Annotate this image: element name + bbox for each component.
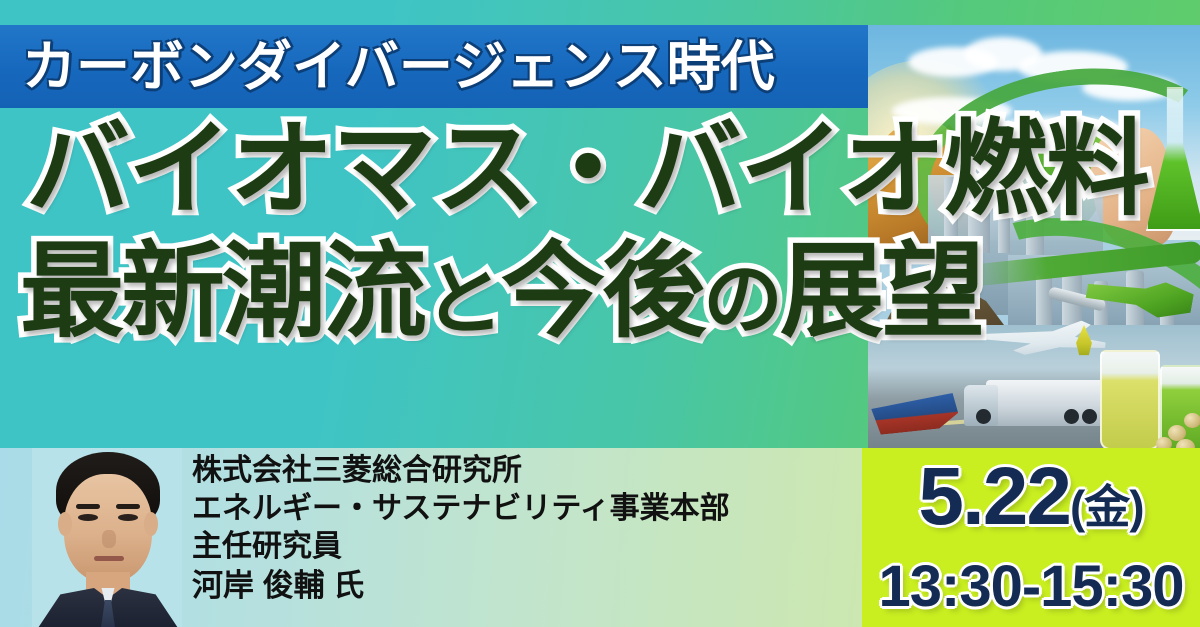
biofuel-jar xyxy=(1100,350,1160,448)
title-segment-to: と xyxy=(424,255,501,344)
portrait-ear xyxy=(144,512,158,536)
seminar-banner: カーボンダイバージェンス時代 xyxy=(0,0,1200,627)
speaker-info: 株式会社三菱総合研究所 エネルギー・サステナビリティ事業本部 主任研究員 河岸 … xyxy=(192,456,730,601)
truck-wheel xyxy=(976,409,991,424)
day-of-week: (金) xyxy=(1070,484,1144,538)
title-segment-no: の xyxy=(703,255,780,344)
speaker-name: 河岸 俊輔 氏 xyxy=(192,570,730,601)
title-segment-future: 今後 xyxy=(501,234,703,350)
date-row: 5.22 (金) xyxy=(862,456,1200,538)
soybean-icon xyxy=(1184,413,1200,428)
hero-section: カーボンダイバージェンス時代 xyxy=(0,0,1200,448)
date-panel: 5.22 (金) 13:30-15:30 xyxy=(862,448,1200,627)
eyebrow-text: カーボンダイバージェンス時代 xyxy=(0,40,775,94)
speaker-division: エネルギー・サステナビリティ事業本部 xyxy=(192,494,730,524)
title-block: バイオマス・バイオ燃料 最新潮流と今後の展望 xyxy=(0,118,1200,344)
portrait-eye xyxy=(78,514,98,521)
portrait-ear xyxy=(58,512,72,536)
speaker-portrait xyxy=(32,448,182,627)
portrait-eye xyxy=(118,514,138,521)
portrait-eyebrow xyxy=(76,504,100,509)
portrait-eyebrow xyxy=(116,504,140,509)
date-value: 5.22 xyxy=(918,456,1070,538)
soybean-icon xyxy=(1156,437,1172,448)
title-line-2: 最新潮流と今後の展望 xyxy=(0,240,1200,344)
title-line-1: バイオマス・バイオ燃料 xyxy=(0,118,1200,222)
title-segment-outlook: 展望 xyxy=(780,234,982,350)
portrait-mouth xyxy=(94,556,124,561)
speaker-role: 主任研究員 xyxy=(192,532,730,562)
truck-wheel xyxy=(1064,409,1079,424)
truck-wheel xyxy=(1082,409,1097,424)
portrait-face xyxy=(64,474,152,582)
time-range: 13:30-15:30 xyxy=(862,558,1200,616)
eyebrow-bar: カーボンダイバージェンス時代 xyxy=(0,25,868,108)
title-segment-latest-trends: 最新潮流 xyxy=(20,234,424,350)
portrait-nose xyxy=(102,530,116,548)
speaker-company: 株式会社三菱総合研究所 xyxy=(192,456,730,486)
